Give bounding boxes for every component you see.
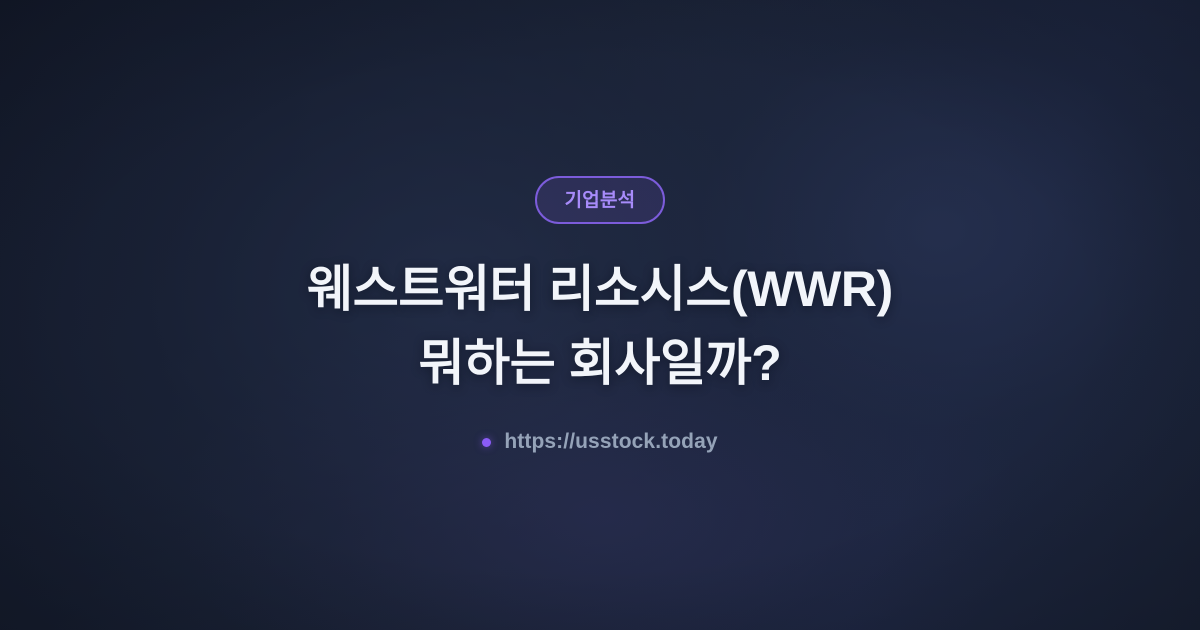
- site-url-label: https://usstock.today: [504, 430, 717, 454]
- category-badge: 기업분석: [535, 176, 666, 224]
- site-url-row: https://usstock.today: [482, 430, 717, 454]
- page-title-line-1: 웨스트워터 리소시스(WWR): [307, 252, 893, 326]
- og-share-card: 기업분석 웨스트워터 리소시스(WWR) 뭐하는 회사일까? https://u…: [0, 0, 1200, 630]
- card-content: 기업분석 웨스트워터 리소시스(WWR) 뭐하는 회사일까? https://u…: [0, 0, 1200, 630]
- page-title: 웨스트워터 리소시스(WWR) 뭐하는 회사일까?: [307, 252, 893, 400]
- bullet-dot-icon: [482, 438, 491, 447]
- page-title-line-2: 뭐하는 회사일까?: [307, 326, 893, 400]
